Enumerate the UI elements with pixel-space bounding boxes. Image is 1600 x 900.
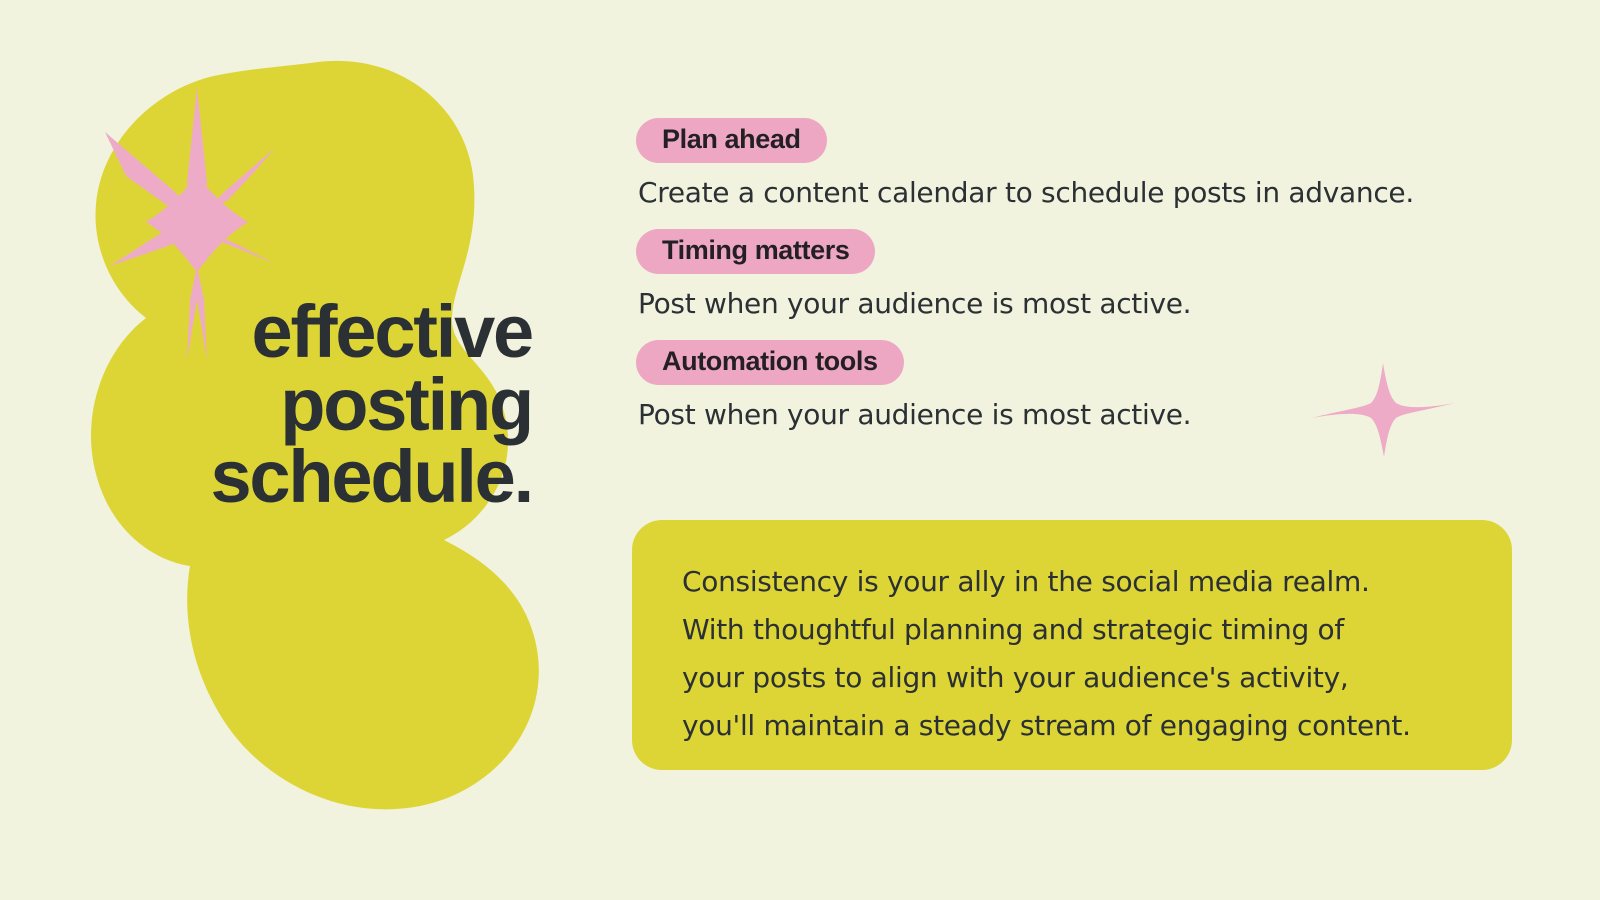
- list-item: Timing matters Post when your audience i…: [636, 229, 1536, 320]
- summary-line-1: Consistency is your ally in the social m…: [682, 558, 1466, 606]
- title-line-1: effective: [80, 296, 532, 369]
- tip-badge-automation-tools[interactable]: Automation tools: [636, 340, 904, 385]
- summary-card: Consistency is your ally in the social m…: [632, 520, 1512, 770]
- summary-text: Consistency is your ally in the social m…: [682, 558, 1466, 751]
- tip-badge-plan-ahead[interactable]: Plan ahead: [636, 118, 827, 163]
- tip-description-timing-matters: Post when your audience is most active.: [638, 288, 1536, 320]
- title-line-2: posting: [80, 369, 532, 442]
- summary-line-3: your posts to align with your audience's…: [682, 654, 1466, 702]
- list-item: Automation tools Post when your audience…: [636, 340, 1536, 431]
- tip-badge-timing-matters[interactable]: Timing matters: [636, 229, 875, 274]
- tips-list: Plan ahead Create a content calendar to …: [636, 118, 1536, 452]
- page-title: effective posting schedule.: [80, 296, 532, 514]
- tip-description-automation-tools: Post when your audience is most active.: [638, 399, 1536, 431]
- title-line-3: schedule.: [80, 441, 532, 514]
- summary-line-4: you'll maintain a steady stream of engag…: [682, 702, 1466, 750]
- slide-canvas: effective posting schedule. Plan ahead C…: [0, 0, 1600, 900]
- tip-description-plan-ahead: Create a content calendar to schedule po…: [638, 177, 1536, 209]
- summary-line-2: With thoughtful planning and strategic t…: [682, 606, 1466, 654]
- list-item: Plan ahead Create a content calendar to …: [636, 118, 1536, 209]
